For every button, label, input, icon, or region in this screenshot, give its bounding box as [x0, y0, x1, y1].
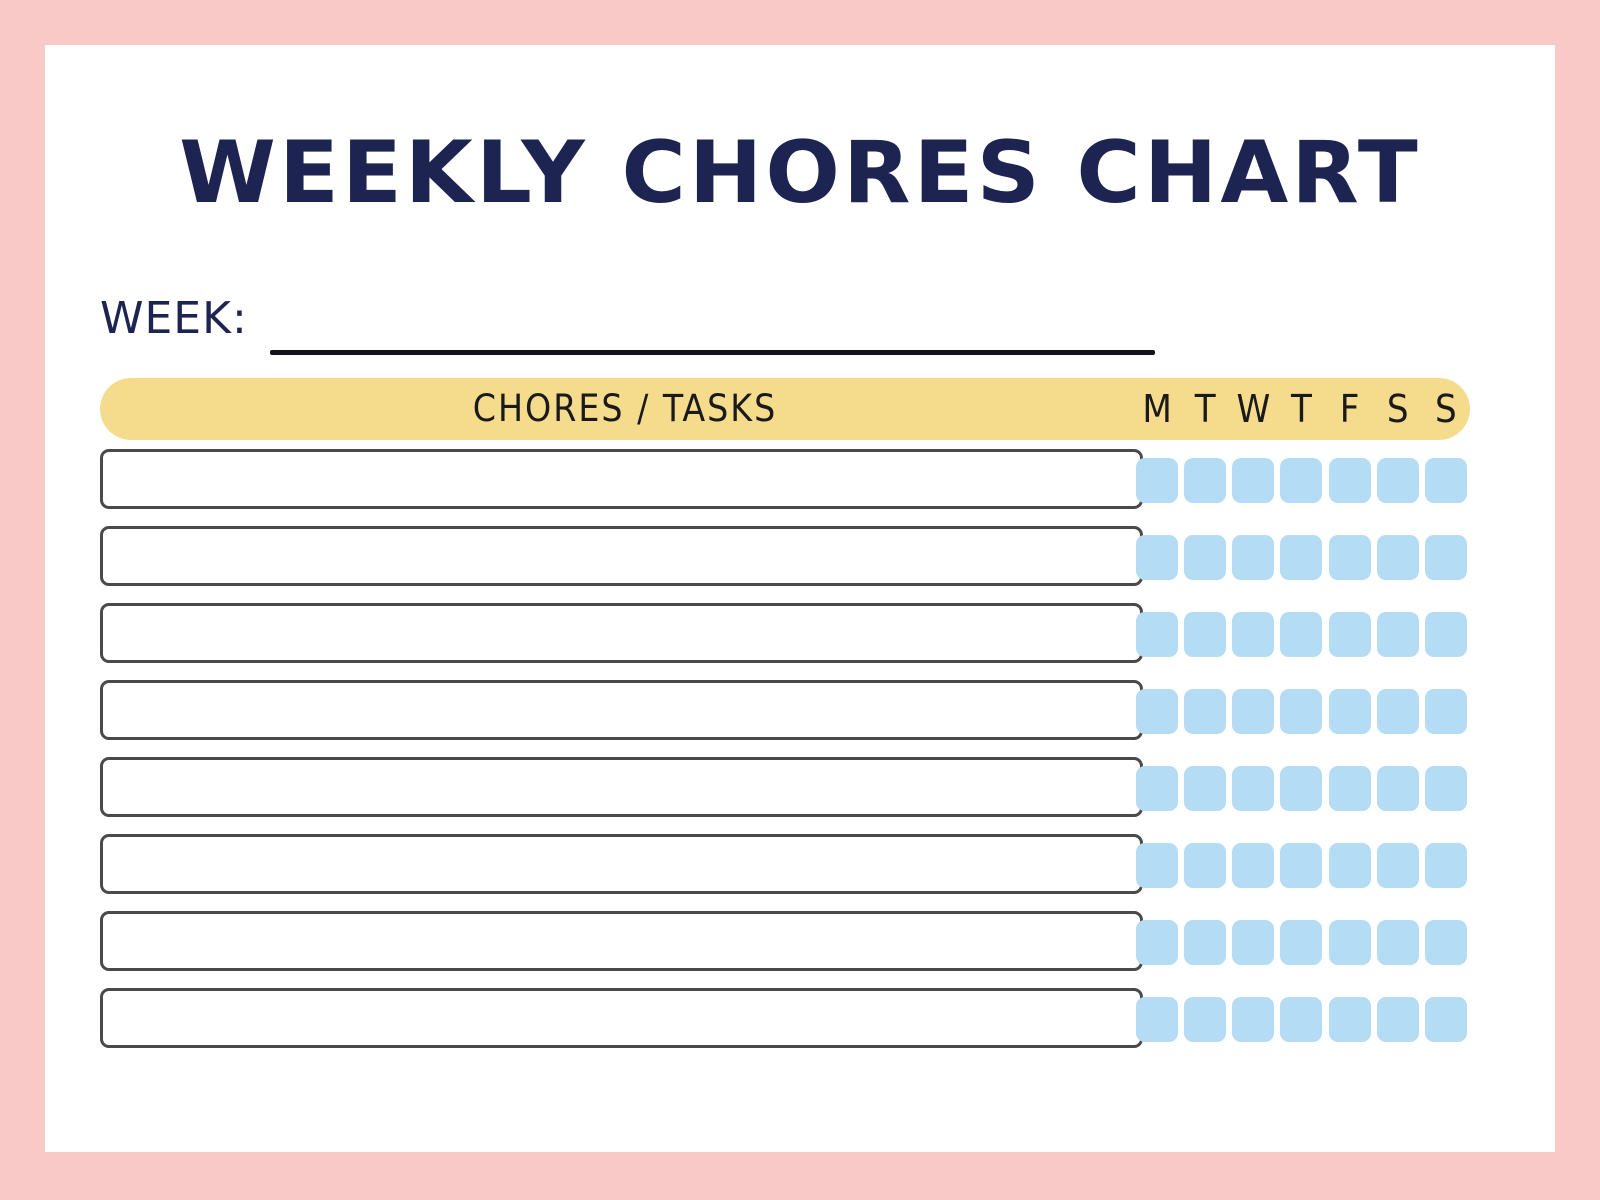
checkbox-cell [1422, 997, 1470, 1042]
day-checkbox-W[interactable] [1232, 920, 1274, 965]
checkbox-cell [1374, 997, 1422, 1042]
chore-rows-container [100, 449, 1470, 1065]
checkbox-cell [1374, 766, 1422, 811]
day-checkbox-T[interactable] [1184, 997, 1226, 1042]
checkbox-group [1133, 606, 1470, 662]
table-row [100, 526, 1470, 588]
table-row [100, 988, 1470, 1050]
task-input-box[interactable] [100, 680, 1143, 740]
day-checkbox-S[interactable] [1377, 843, 1419, 888]
day-checkbox-W[interactable] [1232, 843, 1274, 888]
checkbox-cell [1374, 458, 1422, 503]
day-checkbox-T[interactable] [1280, 458, 1322, 503]
checkbox-cell [1229, 997, 1277, 1042]
week-label: WEEK: [100, 293, 248, 344]
day-checkbox-W[interactable] [1232, 458, 1274, 503]
checkbox-cell [1277, 997, 1325, 1042]
checkbox-group [1133, 529, 1470, 585]
day-checkbox-T[interactable] [1184, 458, 1226, 503]
day-checkbox-F[interactable] [1329, 535, 1371, 580]
day-checkbox-T[interactable] [1280, 689, 1322, 734]
day-header-tuesday: T [1181, 378, 1229, 440]
task-input-box[interactable] [100, 526, 1143, 586]
checkbox-cell [1181, 689, 1229, 734]
day-checkbox-M[interactable] [1136, 843, 1178, 888]
day-checkbox-T[interactable] [1280, 766, 1322, 811]
task-input-box[interactable] [100, 834, 1143, 894]
task-input-box[interactable] [100, 449, 1143, 509]
checkbox-cell [1277, 535, 1325, 580]
checkbox-cell [1326, 689, 1374, 734]
day-checkbox-T[interactable] [1184, 766, 1226, 811]
day-checkbox-S[interactable] [1425, 612, 1467, 657]
day-checkbox-F[interactable] [1329, 689, 1371, 734]
day-checkbox-T[interactable] [1184, 843, 1226, 888]
day-header-saturday: S [1374, 378, 1422, 440]
checkbox-cell [1133, 997, 1181, 1042]
checkbox-cell [1374, 920, 1422, 965]
checkbox-cell [1277, 689, 1325, 734]
checkbox-group [1133, 760, 1470, 816]
day-checkbox-T[interactable] [1184, 535, 1226, 580]
day-checkbox-S[interactable] [1425, 997, 1467, 1042]
page-title: WEEKLY CHORES CHART [30, 130, 1570, 216]
checkbox-cell [1229, 843, 1277, 888]
day-checkbox-T[interactable] [1184, 689, 1226, 734]
checkbox-cell [1181, 766, 1229, 811]
checkbox-cell [1133, 920, 1181, 965]
day-header-monday: M [1133, 378, 1181, 440]
column-header-chores-tasks: CHORES / TASKS [100, 378, 1150, 440]
checkbox-group [1133, 452, 1470, 508]
day-checkbox-W[interactable] [1232, 612, 1274, 657]
day-checkbox-T[interactable] [1280, 535, 1322, 580]
page-frame: WEEKLY CHORES CHART WEEK: CHORES / TASKS… [0, 0, 1600, 1200]
table-row [100, 757, 1470, 819]
table-row [100, 911, 1470, 973]
checkbox-cell [1326, 920, 1374, 965]
checkbox-cell [1277, 612, 1325, 657]
checkbox-group [1133, 837, 1470, 893]
checkbox-cell [1326, 843, 1374, 888]
day-checkbox-S[interactable] [1377, 997, 1419, 1042]
checkbox-cell [1133, 612, 1181, 657]
checkbox-cell [1374, 612, 1422, 657]
checkbox-cell [1181, 920, 1229, 965]
day-checkbox-T[interactable] [1280, 612, 1322, 657]
day-checkbox-M[interactable] [1136, 766, 1178, 811]
day-checkbox-M[interactable] [1136, 535, 1178, 580]
day-header-thursday: T [1277, 378, 1325, 440]
day-checkbox-F[interactable] [1329, 843, 1371, 888]
checkbox-cell [1422, 689, 1470, 734]
day-checkbox-S[interactable] [1425, 689, 1467, 734]
task-input-box[interactable] [100, 757, 1143, 817]
day-checkbox-M[interactable] [1136, 689, 1178, 734]
day-checkbox-S[interactable] [1425, 920, 1467, 965]
day-checkbox-S[interactable] [1377, 612, 1419, 657]
checkbox-group [1133, 683, 1470, 739]
checkbox-cell [1229, 920, 1277, 965]
week-input-line[interactable] [270, 350, 1155, 355]
day-checkbox-S[interactable] [1425, 535, 1467, 580]
checkbox-cell [1229, 458, 1277, 503]
day-checkbox-T[interactable] [1280, 920, 1322, 965]
checkbox-cell [1181, 997, 1229, 1042]
checkbox-cell [1374, 843, 1422, 888]
day-checkbox-T[interactable] [1280, 843, 1322, 888]
table-row [100, 680, 1470, 742]
chart-sheet: WEEKLY CHORES CHART WEEK: CHORES / TASKS… [45, 45, 1555, 1152]
week-field-row: WEEK: [100, 293, 1160, 363]
day-checkbox-F[interactable] [1329, 612, 1371, 657]
checkbox-cell [1422, 843, 1470, 888]
day-checkbox-S[interactable] [1377, 766, 1419, 811]
checkbox-cell [1374, 535, 1422, 580]
checkbox-cell [1422, 920, 1470, 965]
checkbox-cell [1277, 843, 1325, 888]
day-checkbox-S[interactable] [1425, 766, 1467, 811]
day-checkbox-F[interactable] [1329, 997, 1371, 1042]
checkbox-cell [1422, 535, 1470, 580]
day-checkbox-F[interactable] [1329, 920, 1371, 965]
checkbox-cell [1422, 458, 1470, 503]
day-checkbox-S[interactable] [1377, 920, 1419, 965]
day-checkbox-F[interactable] [1329, 766, 1371, 811]
day-header-friday: F [1326, 378, 1374, 440]
day-checkbox-S[interactable] [1377, 689, 1419, 734]
table-header-bar: CHORES / TASKS M T W T F S S [100, 378, 1470, 440]
day-checkbox-F[interactable] [1329, 458, 1371, 503]
day-header-wednesday: W [1229, 378, 1277, 440]
checkbox-cell [1181, 458, 1229, 503]
checkbox-cell [1422, 612, 1470, 657]
task-input-box[interactable] [100, 988, 1143, 1048]
day-checkbox-M[interactable] [1136, 458, 1178, 503]
day-checkbox-M[interactable] [1136, 997, 1178, 1042]
checkbox-cell [1229, 689, 1277, 734]
day-header-sunday: S [1422, 378, 1470, 440]
day-checkbox-S[interactable] [1377, 458, 1419, 503]
checkbox-cell [1326, 766, 1374, 811]
day-checkbox-W[interactable] [1232, 689, 1274, 734]
checkbox-cell [1133, 535, 1181, 580]
checkbox-cell [1181, 612, 1229, 657]
checkbox-cell [1277, 458, 1325, 503]
checkbox-cell [1422, 766, 1470, 811]
checkbox-cell [1326, 997, 1374, 1042]
checkbox-cell [1229, 766, 1277, 811]
day-checkbox-W[interactable] [1232, 535, 1274, 580]
checkbox-cell [1374, 689, 1422, 734]
table-row [100, 449, 1470, 511]
checkbox-cell [1133, 843, 1181, 888]
day-checkbox-T[interactable] [1184, 612, 1226, 657]
day-checkbox-W[interactable] [1232, 766, 1274, 811]
day-checkbox-T[interactable] [1184, 920, 1226, 965]
day-checkbox-T[interactable] [1280, 997, 1322, 1042]
checkbox-group [1133, 991, 1470, 1047]
checkbox-cell [1133, 766, 1181, 811]
table-row [100, 603, 1470, 665]
day-checkbox-M[interactable] [1136, 612, 1178, 657]
checkbox-cell [1326, 458, 1374, 503]
checkbox-cell [1181, 535, 1229, 580]
checkbox-cell [1133, 458, 1181, 503]
day-checkbox-M[interactable] [1136, 920, 1178, 965]
checkbox-cell [1277, 766, 1325, 811]
checkbox-cell [1326, 612, 1374, 657]
day-checkbox-S[interactable] [1425, 843, 1467, 888]
day-checkbox-S[interactable] [1377, 535, 1419, 580]
table-row [100, 834, 1470, 896]
day-checkbox-W[interactable] [1232, 997, 1274, 1042]
checkbox-cell [1133, 689, 1181, 734]
checkbox-cell [1229, 612, 1277, 657]
day-checkbox-S[interactable] [1425, 458, 1467, 503]
checkbox-group [1133, 914, 1470, 970]
checkbox-cell [1277, 920, 1325, 965]
checkbox-cell [1326, 535, 1374, 580]
column-headers-days: M T W T F S S [1133, 378, 1470, 440]
task-input-box[interactable] [100, 911, 1143, 971]
task-input-box[interactable] [100, 603, 1143, 663]
checkbox-cell [1229, 535, 1277, 580]
checkbox-cell [1181, 843, 1229, 888]
